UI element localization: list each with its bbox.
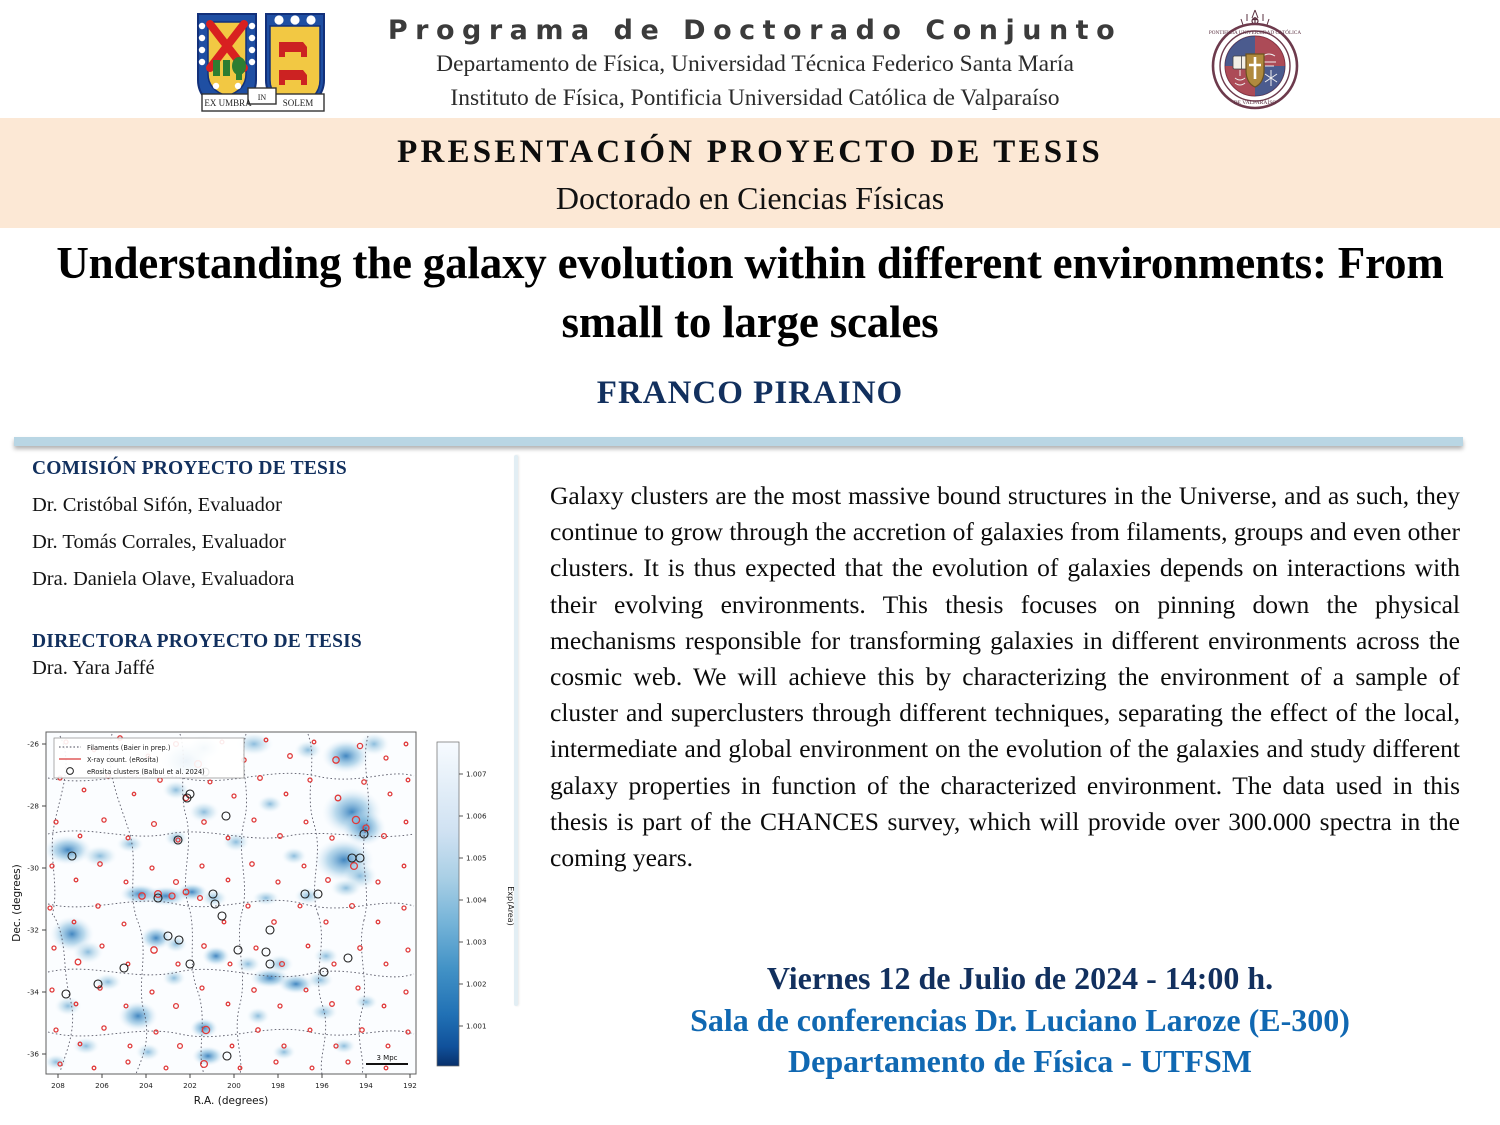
band-subtitle: Doctorado en Ciencias Físicas <box>0 180 1500 217</box>
event-details: Viernes 12 de Julio de 2024 - 14:00 h. S… <box>540 958 1500 1083</box>
director-heading: DIRECTORA PROYECTO DE TESIS <box>32 631 492 653</box>
legend-label-clusters: eRosita clusters (Balbul et al. 2024) <box>87 768 205 776</box>
event-venue-dept: Departamento de Física - UTFSM <box>540 1041 1500 1083</box>
svg-text:IN: IN <box>258 93 267 102</box>
svg-text:1.003: 1.003 <box>466 938 487 947</box>
svg-text:1.007: 1.007 <box>466 770 487 779</box>
abstract-text: Galaxy clusters are the most massive bou… <box>550 478 1460 876</box>
legend-label-xray: X-ray count. (eRosita) <box>87 756 159 764</box>
utfsm-crest-icon: EX UMBRA IN SOLEM <box>186 8 340 116</box>
event-date: Viernes 12 de Julio de 2024 - 14:00 h. <box>540 958 1500 1000</box>
colorbar: 1.007 1.006 1.005 1.004 1.003 1.002 1.00… <box>437 742 515 1066</box>
svg-text:1.006: 1.006 <box>466 812 487 821</box>
committee-member: Dra. Daniela Olave, Evaluadora <box>32 568 492 591</box>
svg-text:PONTIFICIA UNIVERSIDAD CATÓLIC: PONTIFICIA UNIVERSIDAD CATÓLICA <box>1209 28 1301 36</box>
figure-legend: Filaments (Baier in prep.) X-ray count. … <box>54 738 244 778</box>
x-axis-label: R.A. (degrees) <box>194 1095 268 1107</box>
department-line-2: Instituto de Física, Pontificia Universi… <box>360 82 1150 116</box>
pucv-seal-icon: PONTIFICIA UNIVERSIDAD CATÓLICA DE VALPA… <box>1203 8 1307 112</box>
svg-text:-26: -26 <box>27 740 39 749</box>
svg-text:1.004: 1.004 <box>466 896 487 905</box>
figure-svg: Filaments (Baier in prep.) X-ray count. … <box>8 716 528 1108</box>
svg-text:208: 208 <box>51 1081 65 1090</box>
y-axis-label: Dec. (degrees) <box>11 864 23 941</box>
scalebar-label: 3 Mpc <box>376 1054 397 1062</box>
x-axis-ticks: 208 206 204 202 200 198 196 194 192 <box>51 1074 417 1090</box>
svg-text:206: 206 <box>95 1081 109 1090</box>
svg-text:1.001: 1.001 <box>466 1022 487 1031</box>
horizontal-divider <box>14 437 1463 446</box>
svg-text:-28: -28 <box>27 802 39 811</box>
legend-label-filaments: Filaments (Baier in prep.) <box>87 744 170 752</box>
event-venue-room: Sala de conferencias Dr. Luciano Laroze … <box>540 1000 1500 1042</box>
author-name: FRANCO PIRAINO <box>40 375 1460 412</box>
page-header: EX UMBRA IN SOLEM Programa de Doctorado … <box>0 0 1500 118</box>
colorbar-label: Exp(Area) <box>506 886 515 926</box>
svg-text:202: 202 <box>183 1081 197 1090</box>
svg-text:-34: -34 <box>27 988 39 997</box>
svg-text:1.002: 1.002 <box>466 980 487 989</box>
svg-text:192: 192 <box>403 1081 417 1090</box>
presentation-band: PRESENTACIÓN PROYECTO DE TESIS Doctorado… <box>0 118 1500 228</box>
cosmic-web-figure: Filaments (Baier in prep.) X-ray count. … <box>8 716 528 1108</box>
program-title: Programa de Doctorado Conjunto <box>360 14 1150 48</box>
svg-text:DE VALPARAÍSO: DE VALPARAÍSO <box>1234 98 1277 106</box>
svg-text:-36: -36 <box>27 1050 39 1059</box>
svg-text:-30: -30 <box>27 864 39 873</box>
svg-text:198: 198 <box>271 1081 285 1090</box>
committee-member: Dr. Tomás Corrales, Evaluador <box>32 531 492 554</box>
y-axis-ticks: -26 -28 -30 -32 -34 -36 <box>27 740 46 1059</box>
svg-text:EX UMBRA: EX UMBRA <box>204 98 252 108</box>
committee-heading: COMISIÓN PROYECTO DE TESIS <box>32 458 492 480</box>
department-line-1: Departamento de Física, Universidad Técn… <box>360 48 1150 82</box>
thesis-title: Understanding the galaxy evolution withi… <box>40 234 1460 353</box>
committee-member: Dr. Cristóbal Sifón, Evaluador <box>32 494 492 517</box>
band-title: PRESENTACIÓN PROYECTO DE TESIS <box>0 134 1500 171</box>
svg-text:196: 196 <box>315 1081 329 1090</box>
svg-text:194: 194 <box>359 1081 373 1090</box>
svg-text:SOLEM: SOLEM <box>283 98 314 108</box>
svg-text:1.005: 1.005 <box>466 854 487 863</box>
director-name: Dra. Yara Jaffé <box>32 657 492 680</box>
svg-text:204: 204 <box>139 1081 153 1090</box>
svg-text:-32: -32 <box>27 926 39 935</box>
svg-text:200: 200 <box>227 1081 241 1090</box>
header-text-block: Programa de Doctorado Conjunto Departame… <box>360 14 1150 115</box>
committee-panel: COMISIÓN PROYECTO DE TESIS Dr. Cristóbal… <box>32 458 492 680</box>
